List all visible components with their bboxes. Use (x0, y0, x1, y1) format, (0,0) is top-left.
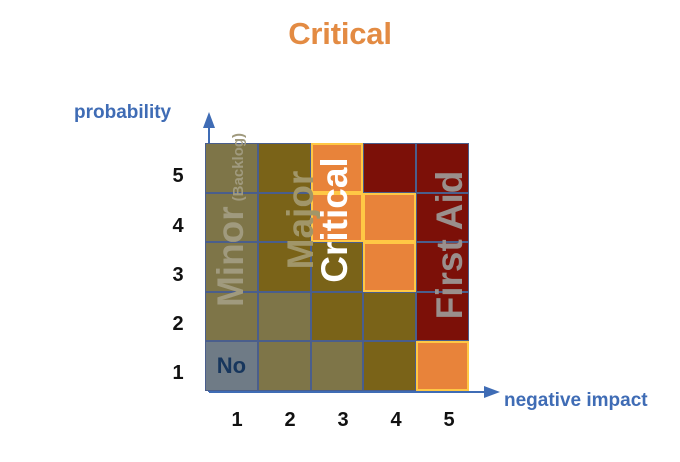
matrix-cell-p1-i5[interactable] (416, 341, 469, 391)
matrix-cell-p4-i3[interactable] (311, 193, 364, 243)
matrix-cell-p1-i4[interactable] (363, 341, 416, 391)
matrix-cell-p2-i1[interactable] (205, 292, 258, 342)
matrix-cell-p2-i4[interactable] (363, 292, 416, 342)
up-arrow-icon (203, 112, 215, 128)
matrix-cell-p1-i2[interactable] (258, 341, 311, 391)
y-tick-1: 1 (166, 362, 190, 385)
y-tick-3: 3 (166, 264, 190, 287)
matrix-cell-p5-i1[interactable] (205, 143, 258, 193)
matrix-cell-p3-i3[interactable] (311, 242, 364, 292)
matrix-cell-p5-i3[interactable] (311, 143, 364, 193)
matrix-cell-p5-i5[interactable] (416, 143, 469, 193)
risk-matrix-grid: No (205, 143, 469, 391)
matrix-cell-p1-i3[interactable] (311, 341, 364, 391)
matrix-cell-p3-i5[interactable] (416, 242, 469, 292)
matrix-cell-p2-i2[interactable] (258, 292, 311, 342)
matrix-cell-p5-i2[interactable] (258, 143, 311, 193)
matrix-cell-p3-i1[interactable] (205, 242, 258, 292)
x-axis-label: negative impact (504, 390, 648, 412)
matrix-cell-p4-i2[interactable] (258, 193, 311, 243)
risk-matrix-slide: Critical probability negative impact 5 4… (0, 0, 680, 462)
y-tick-4: 4 (166, 215, 190, 238)
x-tick-2: 2 (278, 409, 302, 432)
matrix-cell-p4-i5[interactable] (416, 193, 469, 243)
y-tick-2: 2 (166, 313, 190, 336)
matrix-cell-p1-i1[interactable]: No (205, 341, 258, 391)
x-tick-5: 5 (437, 409, 461, 432)
matrix-cell-p4-i4[interactable] (363, 193, 416, 243)
y-axis-label: probability (74, 102, 171, 124)
matrix-cell-p2-i5[interactable] (416, 292, 469, 342)
right-arrow-icon (484, 386, 500, 398)
matrix-cell-p2-i3[interactable] (311, 292, 364, 342)
matrix-cell-label: No (206, 342, 257, 390)
matrix-cell-p3-i2[interactable] (258, 242, 311, 292)
matrix-cell-p4-i1[interactable] (205, 193, 258, 243)
y-tick-5: 5 (166, 165, 190, 188)
page-title: Critical (0, 16, 680, 52)
matrix-cell-p5-i4[interactable] (363, 143, 416, 193)
x-tick-4: 4 (384, 409, 408, 432)
x-tick-1: 1 (225, 409, 249, 432)
x-tick-3: 3 (331, 409, 355, 432)
matrix-cell-p3-i4[interactable] (363, 242, 416, 292)
